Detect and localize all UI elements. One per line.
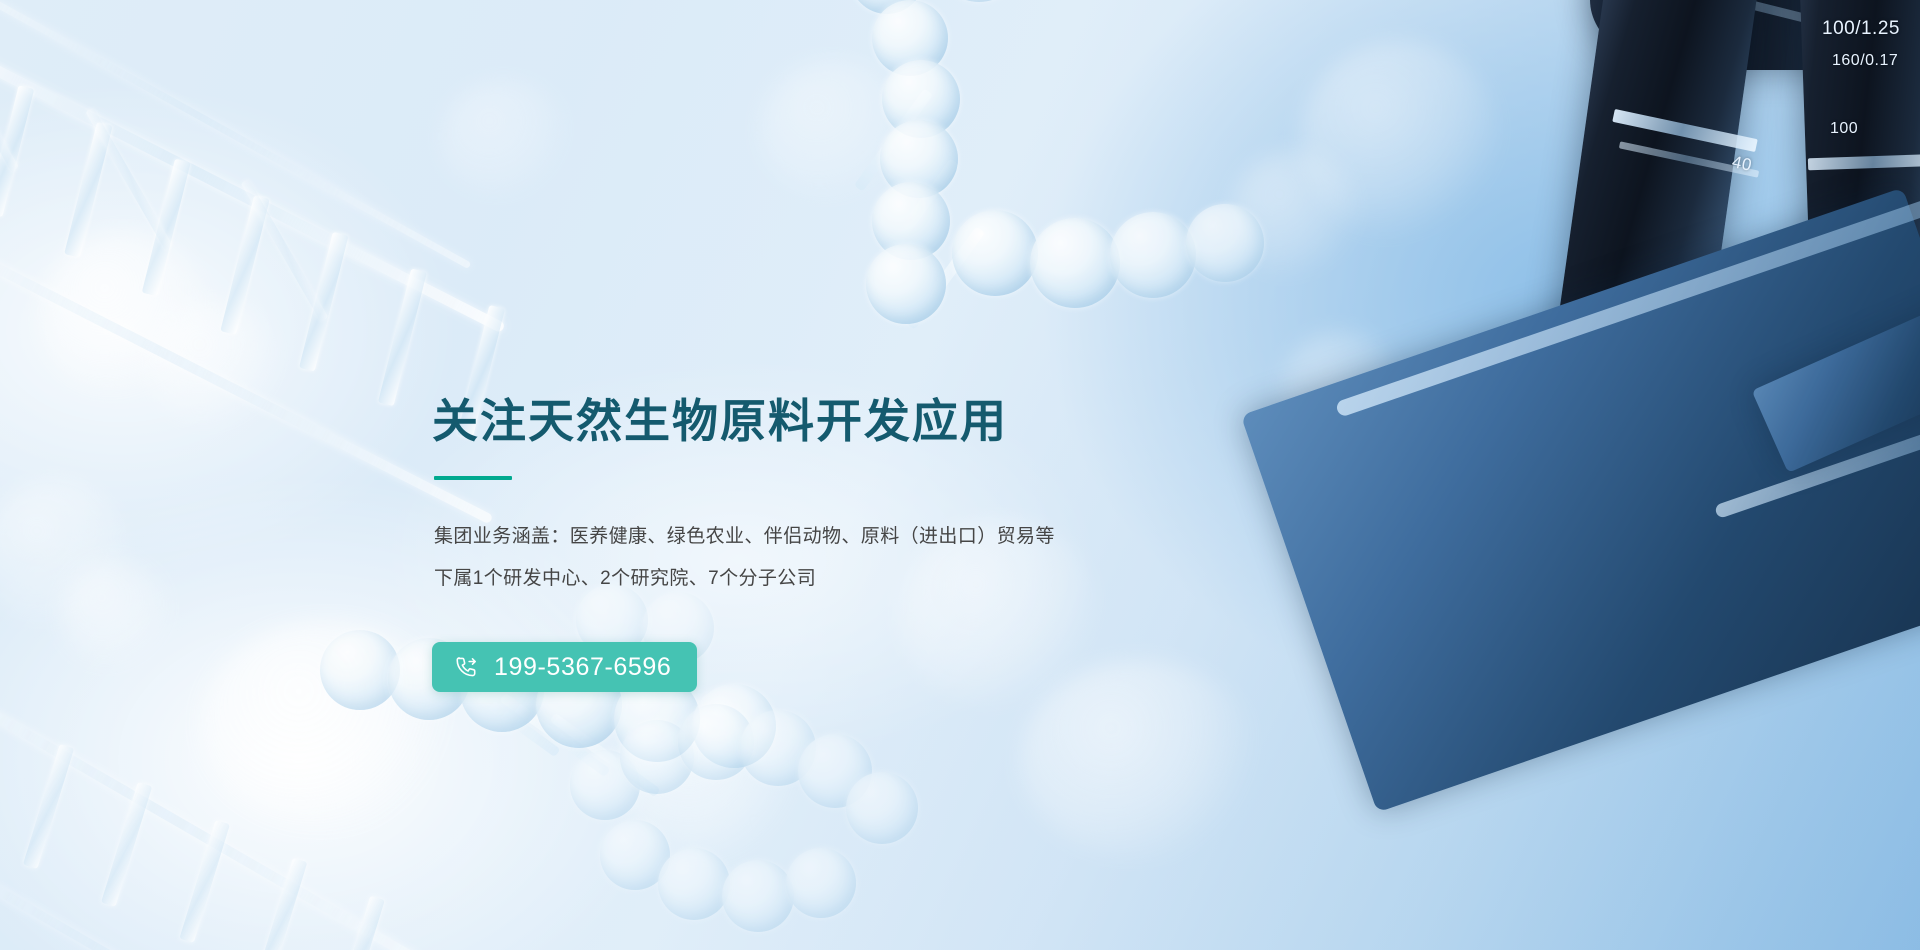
microscope-label-160-0-17: 160/0.17 xyxy=(1832,52,1898,70)
hero-banner: 40 100/1.25 160/0.17 100 关注天然生物原料开发应用 集团… xyxy=(0,0,1920,950)
phone-cta-button[interactable]: 199-5367-6596 xyxy=(432,642,697,692)
microscope-label-40: 40 xyxy=(1730,152,1754,176)
phone-number-label: 199-5367-6596 xyxy=(494,655,671,680)
hero-description: 集团业务涵盖：医养健康、绿色农业、伴侣动物、原料（进出口）贸易等 下属1个研发中… xyxy=(434,516,1292,600)
microscope: 40 100/1.25 160/0.17 100 xyxy=(1380,0,1920,580)
hero-description-line-2: 下属1个研发中心、2个研究院、7个分子公司 xyxy=(434,558,1292,600)
microscope-stage-arm xyxy=(1752,297,1920,473)
microscope-label-100: 100 xyxy=(1830,120,1858,138)
phone-forwarded-icon xyxy=(454,654,480,680)
microscope-objective-40x xyxy=(1553,0,1759,377)
microscope-turret xyxy=(1590,0,1920,70)
microscope-stage xyxy=(1241,187,1920,812)
page-title: 关注天然生物原料开发应用 xyxy=(432,392,1292,450)
hero-description-line-1: 集团业务涵盖：医养健康、绿色农业、伴侣动物、原料（进出口）贸易等 xyxy=(434,516,1292,558)
molecule-chain-bottom xyxy=(560,690,1080,950)
microscope-label-100-1-25: 100/1.25 xyxy=(1822,18,1900,40)
title-divider xyxy=(434,476,512,480)
microscope-objective-100x xyxy=(1796,0,1920,332)
hero-content: 关注天然生物原料开发应用 集团业务涵盖：医养健康、绿色农业、伴侣动物、原料（进出… xyxy=(432,392,1292,692)
